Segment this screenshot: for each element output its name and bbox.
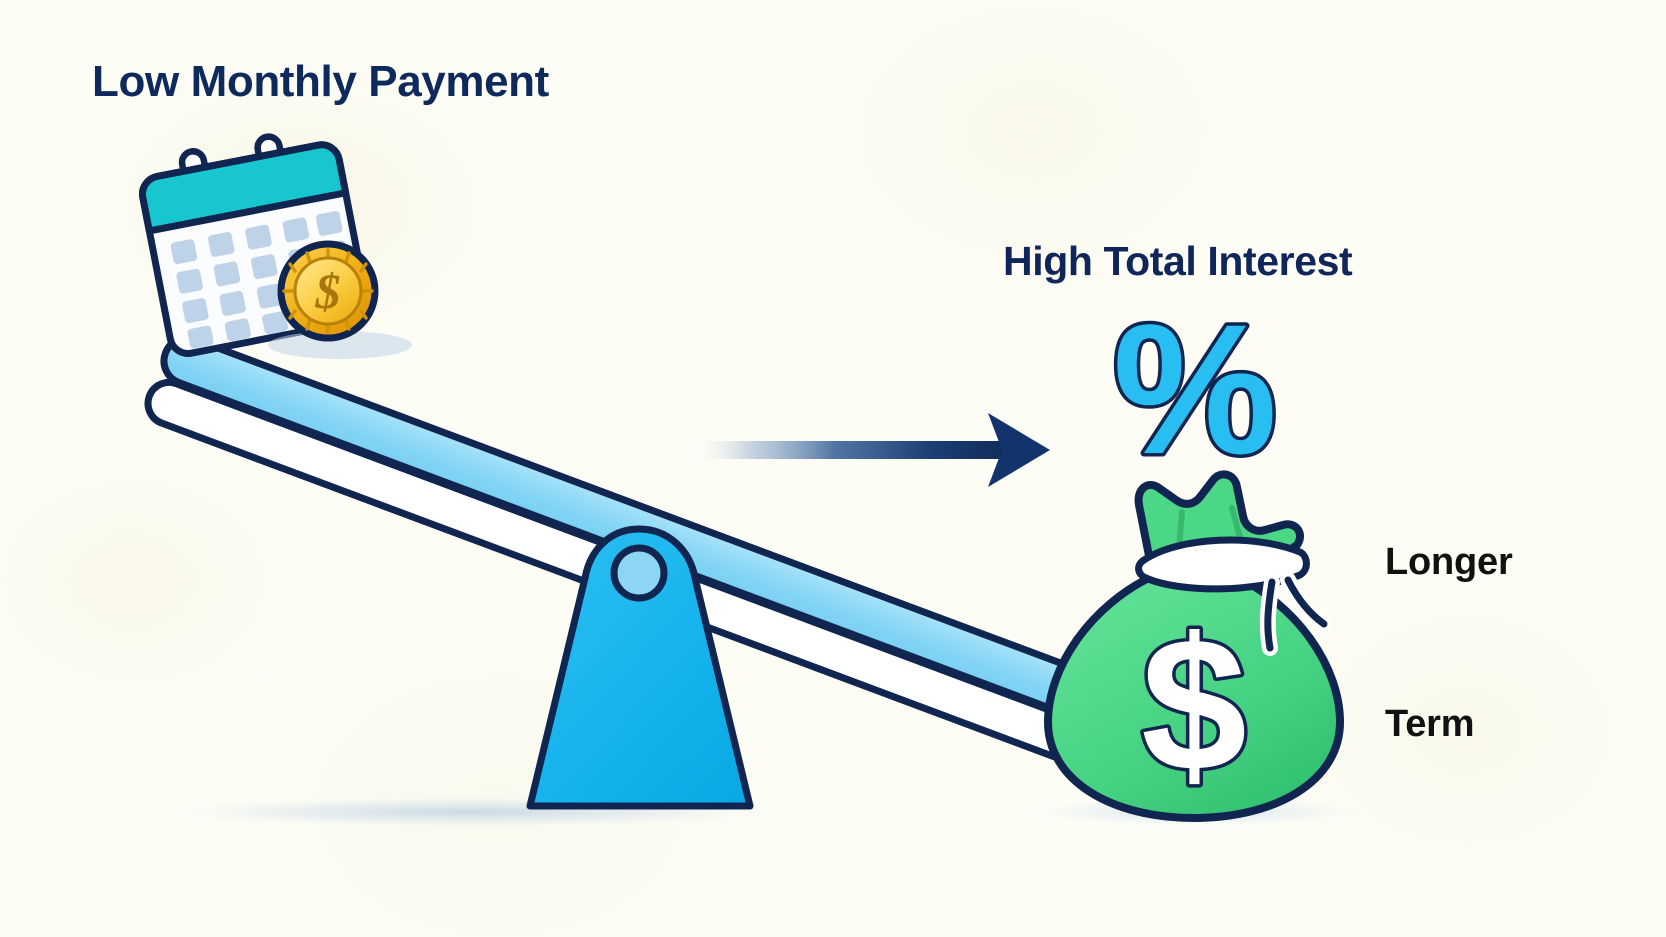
label-longer-term-line1: Longer bbox=[1385, 536, 1513, 590]
svg-text:%: % bbox=[1113, 287, 1278, 493]
label-low-monthly-payment: Low Monthly Payment bbox=[92, 58, 549, 105]
money-bag-dollar-symbol: $ bbox=[1141, 599, 1247, 811]
right-arrow-icon bbox=[690, 413, 1050, 487]
pivot-point bbox=[614, 548, 664, 598]
illustration-canvas: $ % $ bbox=[0, 0, 1666, 937]
dollar-coin-icon: $ bbox=[268, 244, 412, 359]
label-high-total-interest: High Total Interest bbox=[1003, 240, 1352, 284]
seesaw-lever-icon bbox=[142, 331, 1138, 806]
label-longer-term: Longer Term bbox=[1385, 428, 1513, 860]
coin-dollar-symbol: $ bbox=[315, 263, 341, 319]
percent-symbol-icon: % bbox=[1113, 287, 1278, 493]
label-longer-term-line2: Term bbox=[1385, 698, 1513, 752]
money-bag-icon: $ bbox=[1048, 474, 1340, 818]
